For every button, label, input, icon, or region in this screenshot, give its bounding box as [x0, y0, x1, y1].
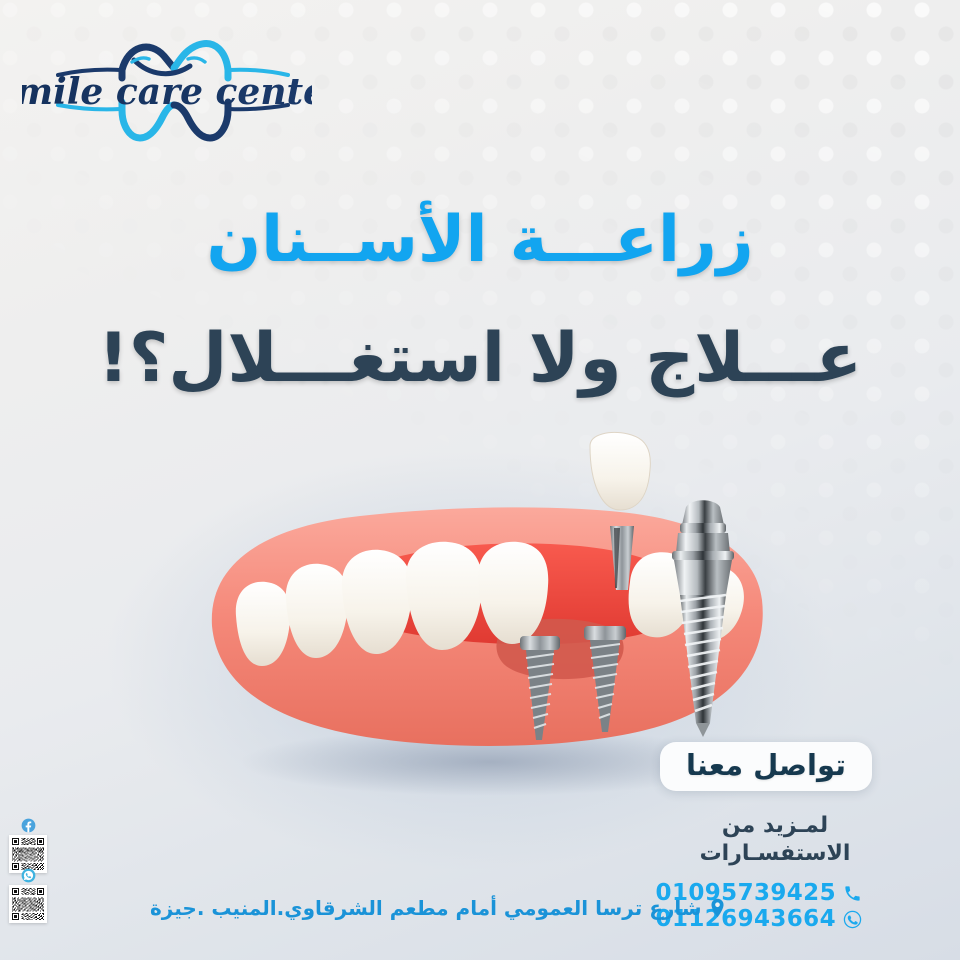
- phone-icon: [843, 884, 862, 903]
- floating-crown: [590, 433, 650, 511]
- clinic-address[interactable]: شارع ترسا العمومي أمام مطعم الشرقاوي.الم…: [150, 897, 660, 919]
- dental-implant-screw: [650, 495, 755, 745]
- location-pin-icon: [709, 898, 726, 918]
- whatsapp-icon: [21, 868, 36, 883]
- inquiries-line-2: الاستفسـارات: [660, 840, 890, 868]
- headline-primary: زراعـــة الأســنان: [0, 208, 960, 272]
- smile-care-center-logo[interactable]: Smile care center: [22, 26, 312, 144]
- whatsapp-icon: [843, 910, 862, 929]
- inquiries-text: لمـزيد من الاستفسـارات: [660, 812, 890, 867]
- contact-us-badge[interactable]: تواصل معنا: [660, 742, 872, 791]
- address-text: شارع ترسا العمومي أمام مطعم الشرقاوي.الم…: [150, 897, 702, 919]
- contact-us-label: تواصل معنا: [686, 751, 846, 780]
- logo-wordmark: Smile care center: [22, 71, 312, 113]
- qr-code-facebook[interactable]: [7, 818, 49, 873]
- qr-code-whatsapp[interactable]: [7, 868, 49, 923]
- inquiries-line-1: لمـزيد من: [660, 812, 890, 840]
- facebook-icon: [21, 818, 36, 833]
- dental-clinic-poster: Smile care center زراعـــة الأســنان عــ…: [0, 0, 960, 960]
- qr-image-whatsapp: [9, 885, 47, 923]
- headline-secondary: عـــلاج ولا استغـــلال؟!: [0, 325, 960, 393]
